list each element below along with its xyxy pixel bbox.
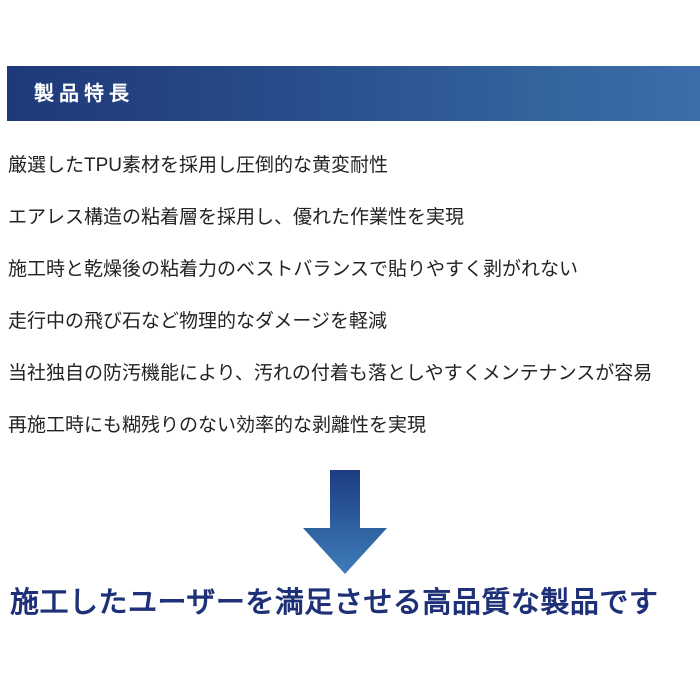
list-item: 再施工時にも糊残りのない効率的な剥離性を実現 [8,400,698,452]
arrow-down-icon [303,470,387,574]
page-title: 製品特長 [34,84,134,104]
product-features-panel: 製品特長 厳選したTPU素材を採用し圧倒的な黄変耐性 エアレス構造の粘着層を採用… [0,0,700,700]
list-item: 当社独自の防汚機能により、汚れの付着も落としやすくメンテナンスが容易 [8,348,698,400]
list-item: 走行中の飛び石など物理的なダメージを軽減 [8,296,698,348]
feature-list: 厳選したTPU素材を採用し圧倒的な黄変耐性 エアレス構造の粘着層を採用し、優れた… [8,140,698,452]
conclusion-headline: 施工したユーザーを満足させる高品質な製品です [10,580,700,626]
section-header-bar: 製品特長 [7,66,700,121]
list-item: 施工時と乾燥後の粘着力のベストバランスで貼りやすく剥がれない [8,244,698,296]
list-item: 厳選したTPU素材を採用し圧倒的な黄変耐性 [8,140,698,192]
list-item: エアレス構造の粘着層を採用し、優れた作業性を実現 [8,192,698,244]
